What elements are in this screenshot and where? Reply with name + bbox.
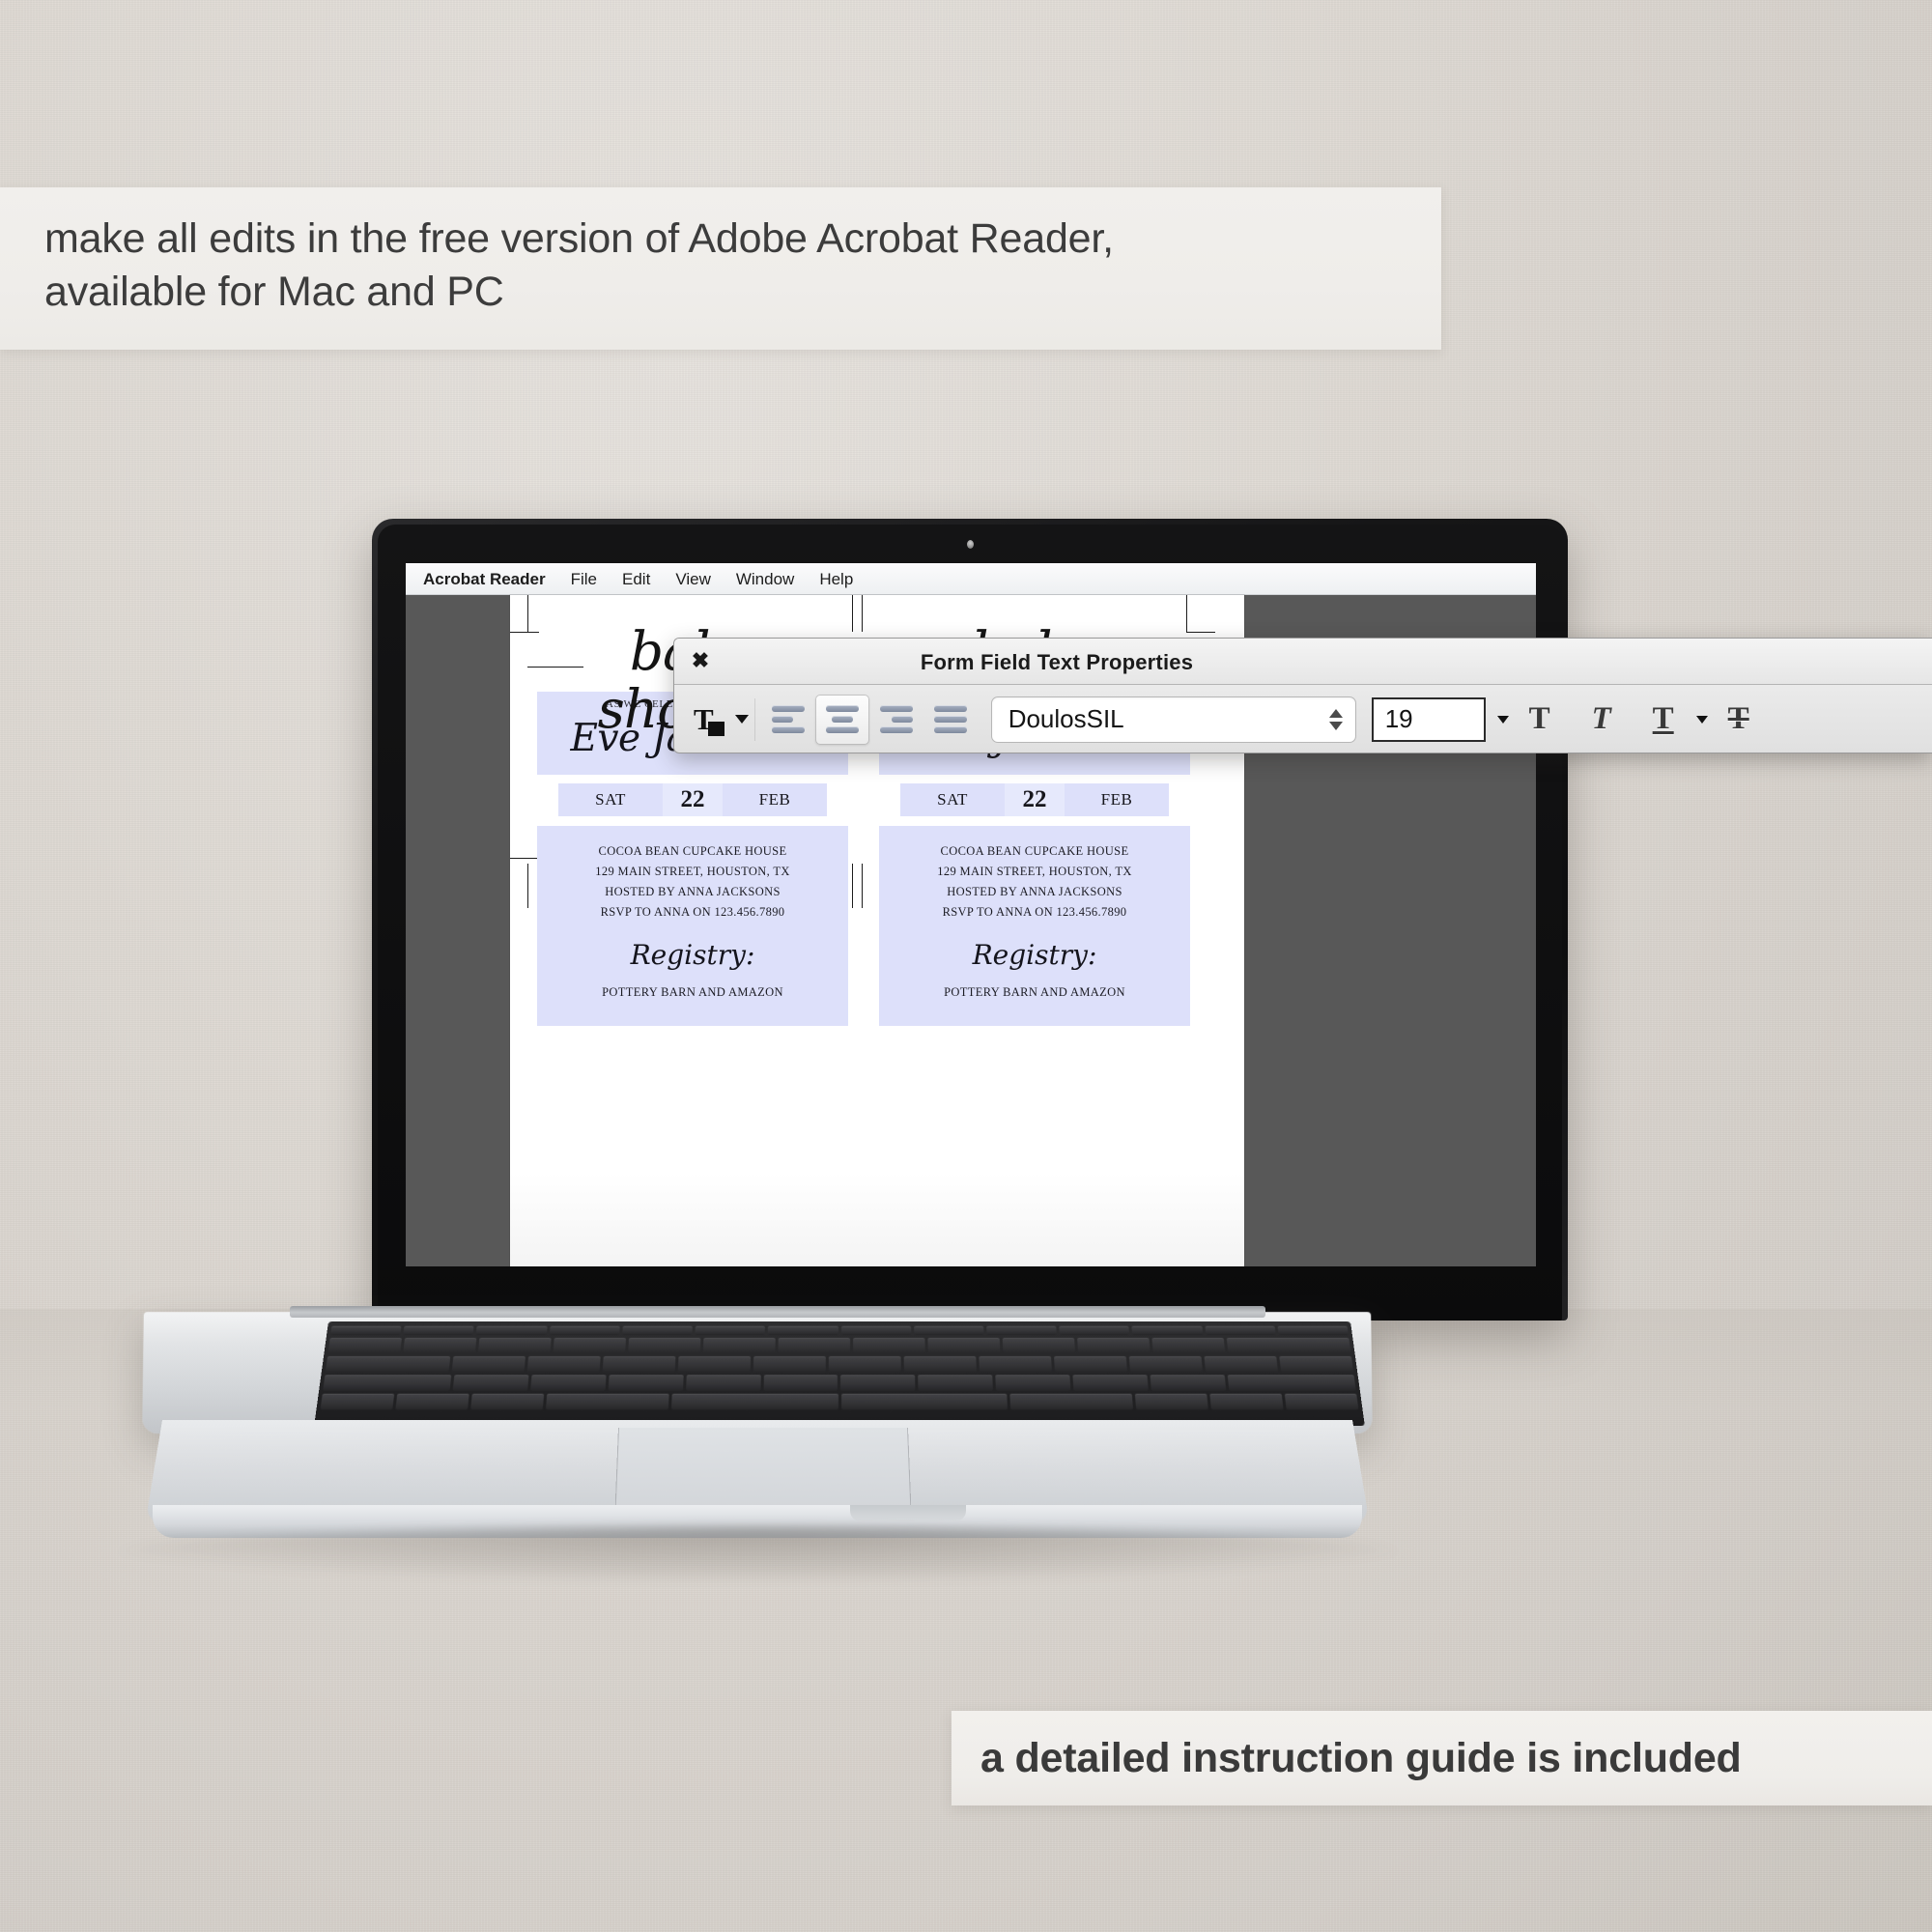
top-caption-banner: make all edits in the free version of Ad… [0,187,1441,350]
top-caption-line-1: make all edits in the free version of Ad… [44,213,1441,266]
key-fn [321,1394,395,1410]
crop-mark-bm2-v [862,864,863,908]
align-justify-icon [934,705,967,733]
key [1204,1356,1278,1372]
key [986,1326,1057,1335]
menu-item-view[interactable]: View [675,563,726,595]
dialog-toolbar: T DoulosSIL 19 [674,685,1932,753]
key [768,1326,838,1335]
key [478,1338,552,1353]
invite-detail-venue[interactable]: COCOA BEAN CUPCAKE HOUSE [879,841,1190,862]
key-arrow [1209,1394,1283,1410]
key [1132,1326,1203,1335]
menu-item-edit[interactable]: Edit [622,563,666,595]
key [1279,1356,1353,1372]
underline-dropdown-icon[interactable] [1696,716,1708,724]
key-tab [326,1356,450,1372]
key [1077,1338,1151,1353]
invite-registry-label: Registry: [537,936,848,975]
key [453,1375,529,1391]
key [1151,1375,1227,1391]
font-family-value: DoulosSIL [1009,704,1124,734]
font-size-value: 19 [1385,704,1413,734]
invite-detail-rsvp[interactable]: RSVP TO ANNA ON 123.456.7890 [537,902,848,923]
crop-mark-tl-h [510,632,539,633]
key-command [546,1394,669,1410]
key [703,1338,776,1353]
invite-date-day[interactable]: 22 [663,783,723,816]
key [1054,1356,1127,1372]
key [763,1375,838,1391]
crop-mark-tm2-v [862,595,863,632]
text-tool-button[interactable]: T [688,704,749,734]
menu-item-help[interactable]: Help [819,563,868,595]
keyboard-row-qwerty [326,1356,1353,1372]
keyboard-row-bottom [321,1394,1359,1410]
invite-details-box: COCOA BEAN CUPCAKE HOUSE 129 MAIN STREET… [537,826,848,1026]
crop-mark-bm1-v [852,864,853,908]
key [1003,1338,1075,1353]
key [603,1356,676,1372]
webcam-icon [967,540,974,549]
menu-item-file[interactable]: File [571,563,612,595]
key [979,1356,1052,1372]
key [841,1326,911,1335]
invite-details-box: COCOA BEAN CUPCAKE HOUSE 129 MAIN STREET… [879,826,1190,1026]
invite-registry-value[interactable]: POTTERY BARN AND AMAZON [537,982,848,1003]
key [1059,1326,1129,1335]
laptop-keyboard [314,1321,1365,1426]
underline-button[interactable]: T [1633,695,1694,745]
invite-registry-value[interactable]: POTTERY BARN AND AMAZON [879,982,1190,1003]
key [327,1338,402,1353]
scene: make all edits in the free version of Ad… [0,0,1932,1932]
invite-date-row: SAT 22 FEB [537,783,848,816]
font-family-select[interactable]: DoulosSIL [991,696,1356,743]
key [403,1338,476,1353]
key [451,1356,525,1372]
invite-date-row: SAT 22 FEB [879,783,1190,816]
key [1205,1326,1275,1335]
invite-detail-address[interactable]: 129 MAIN STREET, HOUSTON, TX [537,862,848,882]
key [928,1338,1001,1353]
key [753,1356,826,1372]
laptop-trackpad[interactable] [614,1428,911,1514]
key [996,1375,1071,1391]
invite-registry-label: Registry: [879,936,1190,975]
align-right-button[interactable] [869,695,923,745]
align-right-icon [880,705,913,733]
laptop-open-notch [850,1505,966,1521]
crop-mark-tl-v [527,595,528,632]
form-field-text-properties-dialog[interactable]: ✖ Form Field Text Properties T [673,638,1932,753]
key-control [395,1394,469,1410]
key-command-right [1009,1394,1133,1410]
key [686,1375,761,1391]
key [622,1326,693,1335]
laptop-hinge [290,1306,1265,1318]
stepper-icon[interactable] [1329,709,1343,730]
invite-detail-venue[interactable]: COCOA BEAN CUPCAKE HOUSE [537,841,848,862]
invite-date-dow[interactable]: SAT [900,783,1005,816]
invite-detail-rsvp[interactable]: RSVP TO ANNA ON 123.456.7890 [879,902,1190,923]
key [914,1326,984,1335]
top-caption-line-2: available for Mac and PC [44,266,1441,319]
key [530,1375,606,1391]
invite-detail-host[interactable]: HOSTED BY ANNA JACKSONS [879,882,1190,902]
keyboard-row-function [330,1326,1349,1335]
keyboard-row-numbers [327,1338,1350,1353]
key [608,1375,683,1391]
key [853,1338,925,1353]
align-center-icon [826,705,859,733]
key-space [671,1394,838,1410]
align-left-icon [772,705,805,733]
font-size-field[interactable]: 19 [1372,697,1486,742]
dialog-title-bar: ✖ Form Field Text Properties [674,639,1932,685]
invite-date-day[interactable]: 22 [1005,783,1065,816]
crop-mark-bl-h [510,858,539,859]
key [330,1326,402,1335]
align-center-button[interactable] [815,695,869,745]
bottom-caption-banner: a detailed instruction guide is included [952,1711,1932,1805]
invite-date-month[interactable]: FEB [723,783,827,816]
font-size-dropdown-icon[interactable] [1497,716,1509,724]
menu-item-acrobat-reader[interactable]: Acrobat Reader [423,563,561,595]
crop-mark-tm1-v [852,595,853,632]
invite-date-dow[interactable]: SAT [558,783,663,816]
key [526,1356,600,1372]
key [1129,1356,1203,1372]
key [1152,1338,1226,1353]
key-space [841,1394,1008,1410]
key [919,1375,994,1391]
keyboard-row-home [323,1375,1356,1391]
key-return [1228,1375,1356,1391]
key-arrow [1285,1394,1359,1410]
crop-mark-bl-v [527,864,528,908]
key [696,1326,766,1335]
key [476,1326,547,1335]
toolbar-divider [754,698,755,741]
key [840,1375,915,1391]
text-tool-icon: T [694,704,714,734]
invite-detail-host[interactable]: HOSTED BY ANNA JACKSONS [537,882,848,902]
bold-button[interactable]: T [1509,695,1571,745]
strikethrough-button[interactable]: T [1708,695,1770,745]
chevron-down-icon[interactable] [735,715,749,724]
laptop-drop-shadow [116,1526,1401,1580]
align-justify-button[interactable] [923,695,978,745]
key [829,1356,901,1372]
key-delete [1227,1338,1351,1353]
key [678,1356,751,1372]
key [404,1326,474,1335]
italic-button[interactable]: T [1571,695,1633,745]
crop-mark-tr-h [1186,632,1215,633]
mac-menu-bar: Acrobat Reader File Edit View Window Hel… [406,563,1536,595]
key [1277,1326,1349,1335]
menu-item-window[interactable]: Window [736,563,810,595]
key [628,1338,700,1353]
key-option-right [1135,1394,1208,1410]
invite-date-month[interactable]: FEB [1065,783,1169,816]
key-caps-lock [323,1375,451,1391]
invite-detail-address[interactable]: 129 MAIN STREET, HOUSTON, TX [879,862,1190,882]
key [550,1326,620,1335]
key-option [470,1394,544,1410]
key [554,1338,627,1353]
align-left-button[interactable] [761,695,815,745]
key [904,1356,977,1372]
key [1073,1375,1149,1391]
bottom-caption-text: a detailed instruction guide is included [980,1735,1742,1782]
dialog-title: Form Field Text Properties [674,650,1932,675]
key [779,1338,851,1353]
